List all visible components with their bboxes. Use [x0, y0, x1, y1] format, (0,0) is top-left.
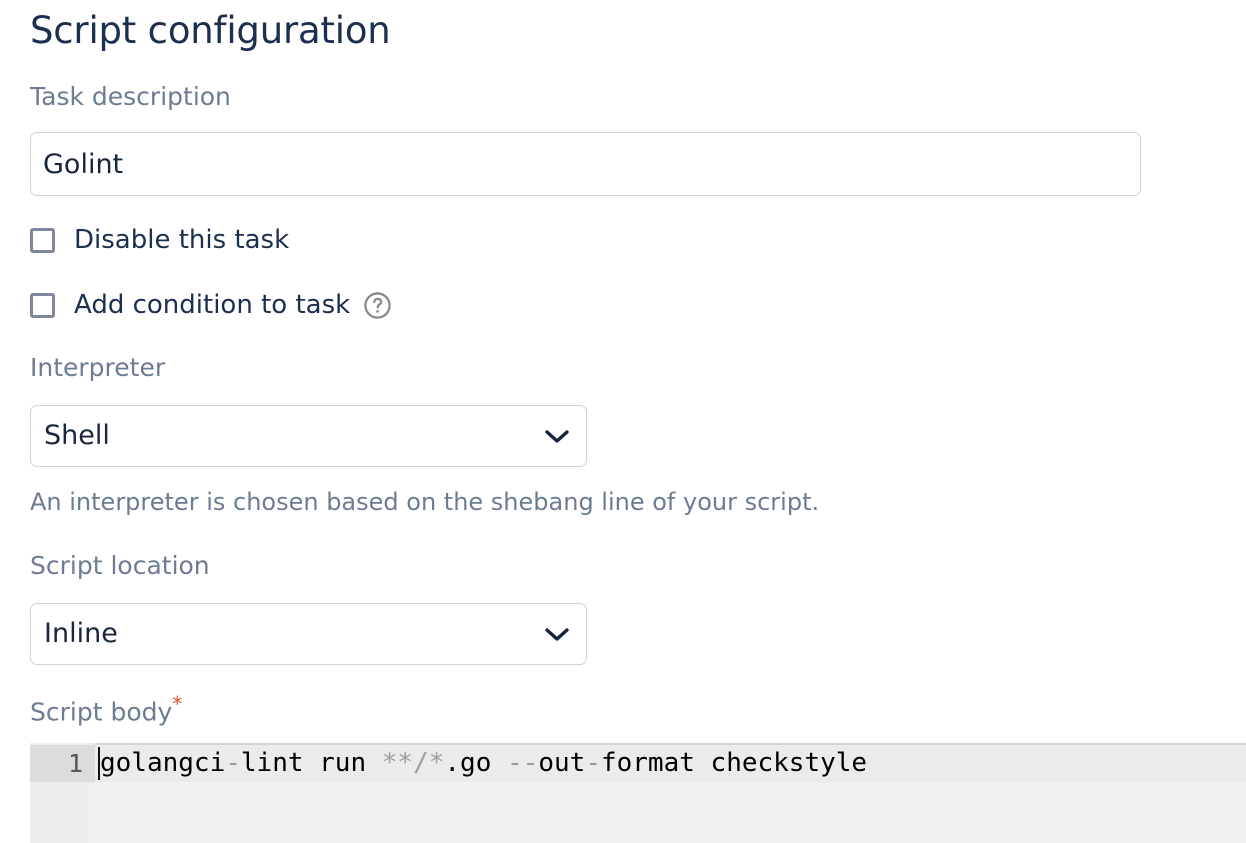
interpreter-select[interactable]: Shell [30, 405, 587, 467]
code-token: out [538, 748, 585, 778]
code-token: .go [444, 748, 507, 778]
disable-task-checkbox[interactable] [30, 228, 55, 253]
question-circle-icon[interactable] [363, 291, 392, 320]
editor-code-line[interactable]: golangci-lint run **/*.go --out-format c… [100, 745, 867, 782]
code-token: lint run [241, 748, 382, 778]
code-token: - [225, 748, 241, 778]
code-token: - [585, 748, 601, 778]
task-description-label: Task description [30, 81, 231, 113]
script-location-select-value[interactable]: Inline [30, 603, 587, 665]
required-asterisk: * [172, 692, 182, 716]
task-description-input[interactable] [30, 132, 1141, 196]
editor-line-number: 1 [30, 745, 83, 782]
page-title: Script configuration [30, 6, 391, 56]
disable-task-label: Disable this task [74, 224, 289, 256]
interpreter-select-value[interactable]: Shell [30, 405, 587, 467]
script-body-label-text: Script body [30, 697, 172, 726]
script-body-editor[interactable]: 1 golangci-lint run **/*.go --out-format… [30, 743, 1246, 843]
interpreter-helper-text: An interpreter is chosen based on the sh… [30, 487, 819, 517]
code-token: -- [507, 748, 538, 778]
code-token: golangci [100, 748, 225, 778]
interpreter-label: Interpreter [30, 352, 165, 384]
code-token: format checkstyle [601, 748, 867, 778]
script-body-label: Script body* [30, 694, 182, 728]
code-token: / [413, 748, 429, 778]
script-location-select[interactable]: Inline [30, 603, 587, 665]
add-condition-row[interactable]: Add condition to task [30, 288, 392, 322]
script-location-label: Script location [30, 550, 210, 582]
code-token: ** [382, 748, 413, 778]
add-condition-label: Add condition to task [74, 289, 350, 321]
add-condition-checkbox[interactable] [30, 293, 55, 318]
script-configuration-page: Script configuration Task description Di… [0, 0, 1246, 843]
code-token: * [429, 748, 445, 778]
disable-task-row[interactable]: Disable this task [30, 223, 289, 257]
